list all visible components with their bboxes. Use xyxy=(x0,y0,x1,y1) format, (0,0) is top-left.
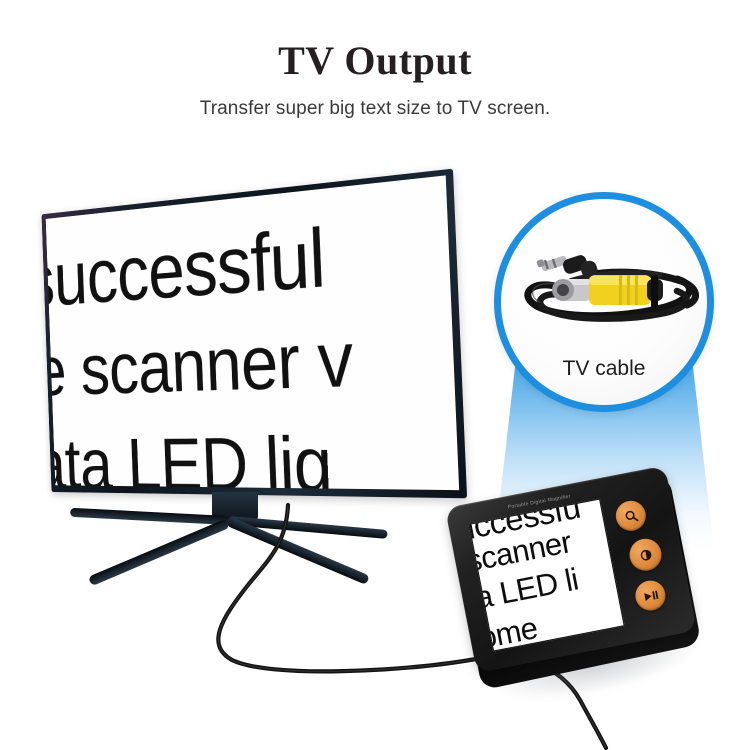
tv-cable-callout-inner: TV cable xyxy=(501,199,707,405)
zoom-button[interactable] xyxy=(613,498,648,533)
tv-screen-text-line: successful xyxy=(46,210,327,325)
portable-digital-magnifier: Portable Digital Magnifier uccessfu scan… xyxy=(443,464,717,727)
magnifier-icon xyxy=(622,507,640,525)
tv-screen-text-line: e scanner v xyxy=(46,313,354,412)
contrast-icon xyxy=(637,546,655,564)
tv-stand-leg xyxy=(88,518,230,586)
page-subtitle: Transfer super big text size to TV scree… xyxy=(0,82,750,120)
rca-yellow-connector xyxy=(552,275,663,305)
device-screen: uccessfu scanner a LED li ome xyxy=(468,498,624,651)
tv-cable-label: TV cable xyxy=(501,357,707,381)
device-screen-text-line: ome xyxy=(476,610,540,651)
tv-cable-photo xyxy=(501,235,707,345)
tv-stand-leg xyxy=(70,508,228,525)
header: TV Output Transfer super big text size t… xyxy=(0,0,750,120)
play-pause-icon xyxy=(642,588,659,604)
page-title: TV Output xyxy=(0,0,750,82)
jack-35mm-connector xyxy=(536,254,599,280)
tv-panel: successful e scanner v ata LED lig xyxy=(42,169,468,499)
tv-stand xyxy=(60,492,420,588)
product-feature-image: TV Output Transfer super big text size t… xyxy=(0,0,750,750)
play-pause-button[interactable] xyxy=(633,578,668,613)
contrast-button[interactable] xyxy=(627,536,665,574)
tv-cable-callout: TV cable xyxy=(494,192,714,412)
tv-screen: successful e scanner v ata LED lig xyxy=(46,175,459,490)
television: successful e scanner v ata LED lig xyxy=(0,168,480,528)
tv-screen-text-line: ata LED lig xyxy=(46,419,334,490)
tv-bezel: successful e scanner v ata LED lig xyxy=(42,169,468,499)
